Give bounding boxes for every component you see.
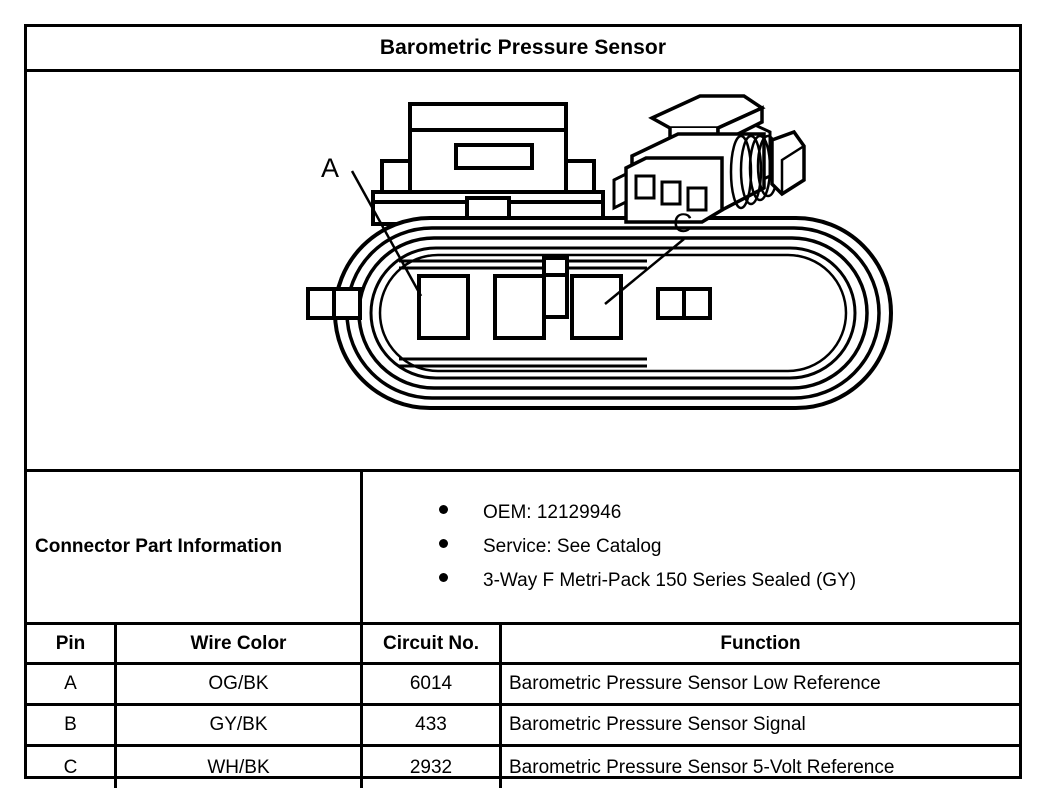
table-row: A OG/BK 6014 Barometric Pressure Sensor …: [27, 665, 1019, 706]
connector-keying-post: [544, 258, 567, 317]
table-header-row: Pin Wire Color Circuit No. Function: [27, 625, 1019, 665]
terminal-c: [572, 276, 621, 338]
cell-pin: C: [27, 747, 117, 788]
cell-wire-color: GY/BK: [117, 706, 363, 744]
column-header-circuit-no: Circuit No.: [363, 625, 502, 662]
cell-pin: A: [27, 665, 117, 703]
cell-pin: B: [27, 706, 117, 744]
connector-part-description: 3-Way F Metri-Pack 150 Series Sealed (GY…: [483, 564, 856, 598]
connector-drawing: A C: [27, 72, 1019, 469]
list-item: OEM: 12129946: [439, 496, 1019, 530]
cell-wire-color: OG/BK: [117, 665, 363, 703]
connector-part-service: Service: See Catalog: [483, 530, 662, 564]
connector-side-tab-right: [658, 289, 710, 318]
table-row: C WH/BK 2932 Barometric Pressure Sensor …: [27, 747, 1019, 788]
cell-wire-color: WH/BK: [117, 747, 363, 788]
list-item: Service: See Catalog: [439, 530, 1019, 564]
table-row: B GY/BK 433 Barometric Pressure Sensor S…: [27, 706, 1019, 747]
cell-circuit-no: 433: [363, 706, 502, 744]
terminal-a: [419, 276, 468, 338]
cell-circuit-no: 2932: [363, 747, 502, 788]
connector-face-page: Barometric Pressure Sensor: [0, 0, 1056, 806]
title-bar: Barometric Pressure Sensor: [27, 27, 1019, 72]
cell-circuit-no: 6014: [363, 665, 502, 703]
connector-latch: [410, 104, 566, 192]
bullet-icon: [439, 539, 448, 548]
column-header-pin: Pin: [27, 625, 117, 662]
connector-part-oem: OEM: 12129946: [483, 496, 621, 530]
cell-function: Barometric Pressure Sensor Low Reference: [502, 665, 1019, 703]
connector-part-information-row: Connector Part Information OEM: 12129946…: [27, 472, 1019, 625]
page-title: Barometric Pressure Sensor: [380, 36, 666, 60]
connector-part-information-label: Connector Part Information: [35, 536, 282, 558]
callout-label-a: A: [321, 153, 339, 183]
connector-illustration-panel: A C: [27, 72, 1019, 472]
bullet-icon: [439, 505, 448, 514]
cell-function: Barometric Pressure Sensor Signal: [502, 706, 1019, 744]
callout-label-c: C: [673, 208, 693, 238]
connector-card: Barometric Pressure Sensor: [24, 24, 1022, 779]
column-header-function: Function: [502, 625, 1019, 662]
terminal-b: [495, 276, 544, 338]
connector-part-information-label-cell: Connector Part Information: [27, 472, 363, 622]
column-header-wire-color: Wire Color: [117, 625, 363, 662]
connector-isometric-view: [614, 96, 804, 222]
cell-function: Barometric Pressure Sensor 5-Volt Refere…: [502, 747, 1019, 788]
connector-part-information-list: OEM: 12129946 Service: See Catalog 3-Way…: [363, 472, 1019, 622]
bullet-icon: [439, 573, 448, 582]
list-item: 3-Way F Metri-Pack 150 Series Sealed (GY…: [439, 564, 1019, 598]
pin-table: Pin Wire Color Circuit No. Function A OG…: [27, 625, 1019, 777]
connector-side-tab-left: [308, 289, 360, 318]
